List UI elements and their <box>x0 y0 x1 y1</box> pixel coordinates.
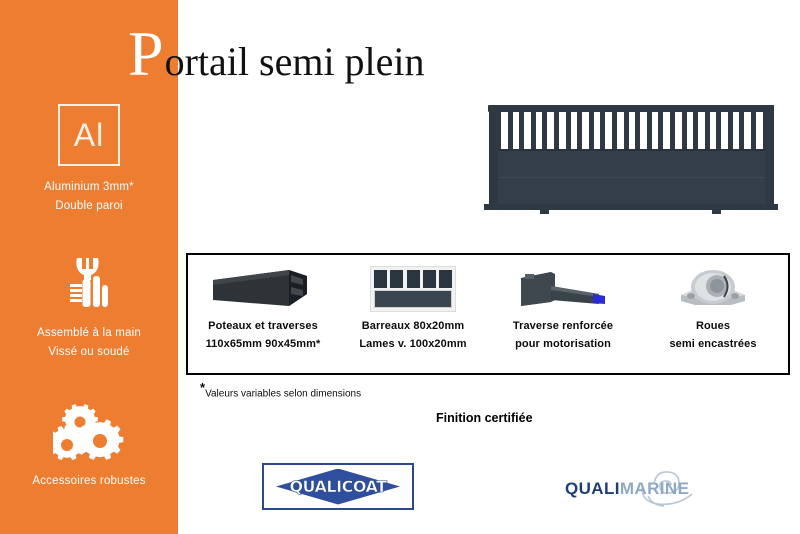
sidebar-aluminium-line1: Aluminium 3mm* <box>0 178 178 197</box>
feature-barreaux-caption: Barreaux 80x20mm Lames v. 100x20mm <box>359 317 466 353</box>
gate-bar <box>612 112 617 149</box>
feature-traverse-line1: Traverse renforcée <box>513 320 613 332</box>
page-title: P ortail semi plein <box>128 22 425 88</box>
wheel-bearing-icon <box>677 261 749 317</box>
feature-roues: Roues semi encastrées <box>638 255 788 373</box>
gate-top-rail <box>488 105 774 112</box>
aluminium-al-icon: Al <box>58 104 120 166</box>
sidebar-item-assembly: Assemblé à la main Vissé ou soudé <box>0 252 178 362</box>
gate-bar <box>600 112 605 149</box>
gate-bar <box>635 112 640 149</box>
wrench-screws-icon <box>0 252 178 314</box>
aluminium-profile-extrusion-icon <box>211 261 315 317</box>
reinforced-crossbeam-icon <box>515 261 611 317</box>
gate-foot-left <box>540 210 549 214</box>
sidebar-assembly-line2: Vissé ou soudé <box>0 343 178 362</box>
feature-barreaux-line1: Barreaux 80x20mm <box>362 320 465 332</box>
page-title-rest: ortail semi plein <box>165 39 425 85</box>
gate-bar <box>577 112 582 149</box>
gate-bar <box>566 112 571 149</box>
features-box: Poteaux et traverses 110x65mm 90x45mm* B… <box>186 253 790 375</box>
thumb-bars-top <box>374 270 452 288</box>
gate-solid-panel <box>496 149 768 206</box>
gate-bar <box>531 112 536 149</box>
feature-poteaux-line1: Poteaux et traverses <box>208 320 318 332</box>
footnote: *Valeurs variables selon dimensions <box>200 381 361 401</box>
gate-bar <box>542 112 547 149</box>
gate-bar <box>682 112 687 149</box>
gate-bar <box>508 112 513 149</box>
qualimarine-label: QUALIMARINE <box>565 479 689 499</box>
sidebar-item-accessories: Accessoires robustes <box>0 400 178 491</box>
footnote-text: Valeurs variables selon dimensions <box>205 388 361 399</box>
gate-post-right <box>765 105 774 209</box>
feature-poteaux-caption: Poteaux et traverses 110x65mm 90x45mm* <box>206 317 321 353</box>
gate-bar <box>554 112 559 149</box>
gate-bar <box>624 112 629 149</box>
gate-bar <box>705 112 710 149</box>
sidebar-item-aluminium: Al Aluminium 3mm* Double paroi <box>0 104 178 216</box>
gate-bar <box>670 112 675 149</box>
gate-post-left <box>489 105 498 209</box>
gate-bar <box>647 112 652 149</box>
gate-bar <box>716 112 721 149</box>
qualimarine-logo: QUALIMARINE <box>556 466 721 510</box>
qualimarine-label-part1: QUALI <box>565 479 620 498</box>
qualicoat-logo: QUALICOAT <box>262 463 414 510</box>
gears-icon <box>0 400 178 462</box>
thumb-bars-panel <box>374 290 452 308</box>
sidebar-assembly-line1: Assemblé à la main <box>0 324 178 343</box>
feature-roues-caption: Roues semi encastrées <box>669 317 756 353</box>
gate-bar <box>519 112 524 149</box>
gate-bar <box>589 112 594 149</box>
feature-barreaux: Barreaux 80x20mm Lames v. 100x20mm <box>338 255 488 373</box>
feature-traverse: Traverse renforcée pour motorisation <box>488 255 638 373</box>
feature-traverse-caption: Traverse renforcée pour motorisation <box>513 317 613 353</box>
sidebar-accessories-line1: Accessoires robustes <box>0 472 178 491</box>
gate-bar <box>658 112 663 149</box>
al-badge-label: Al <box>74 119 104 151</box>
qualicoat-label: QUALICOAT <box>289 477 386 496</box>
feature-barreaux-line2: Lames v. 100x20mm <box>359 335 466 353</box>
feature-poteaux: Poteaux et traverses 110x65mm 90x45mm* <box>188 255 338 373</box>
feature-poteaux-line2: 110x65mm 90x45mm* <box>206 335 321 353</box>
certification-heading: Finition certifiée <box>436 411 533 425</box>
gate-illustration <box>484 105 778 217</box>
feature-traverse-line2: pour motorisation <box>513 335 613 353</box>
feature-roues-line2: semi encastrées <box>669 335 756 353</box>
page-title-capital: P <box>128 22 164 86</box>
product-sheet: Al Aluminium 3mm* Double paroi <box>0 0 800 534</box>
feature-roues-line1: Roues <box>696 320 730 332</box>
gate-bar <box>693 112 698 149</box>
gate-foot-right <box>712 210 721 214</box>
gate-bar <box>728 112 733 149</box>
gate-bar <box>739 112 744 149</box>
qualimarine-label-part2: MARINE <box>620 479 689 498</box>
gate-bars <box>496 112 768 149</box>
gate-bars-panel-icon <box>370 261 456 317</box>
sidebar-aluminium-line2: Double paroi <box>0 197 178 216</box>
gate-bar <box>751 112 756 149</box>
gate-bottom-rail <box>484 204 778 210</box>
